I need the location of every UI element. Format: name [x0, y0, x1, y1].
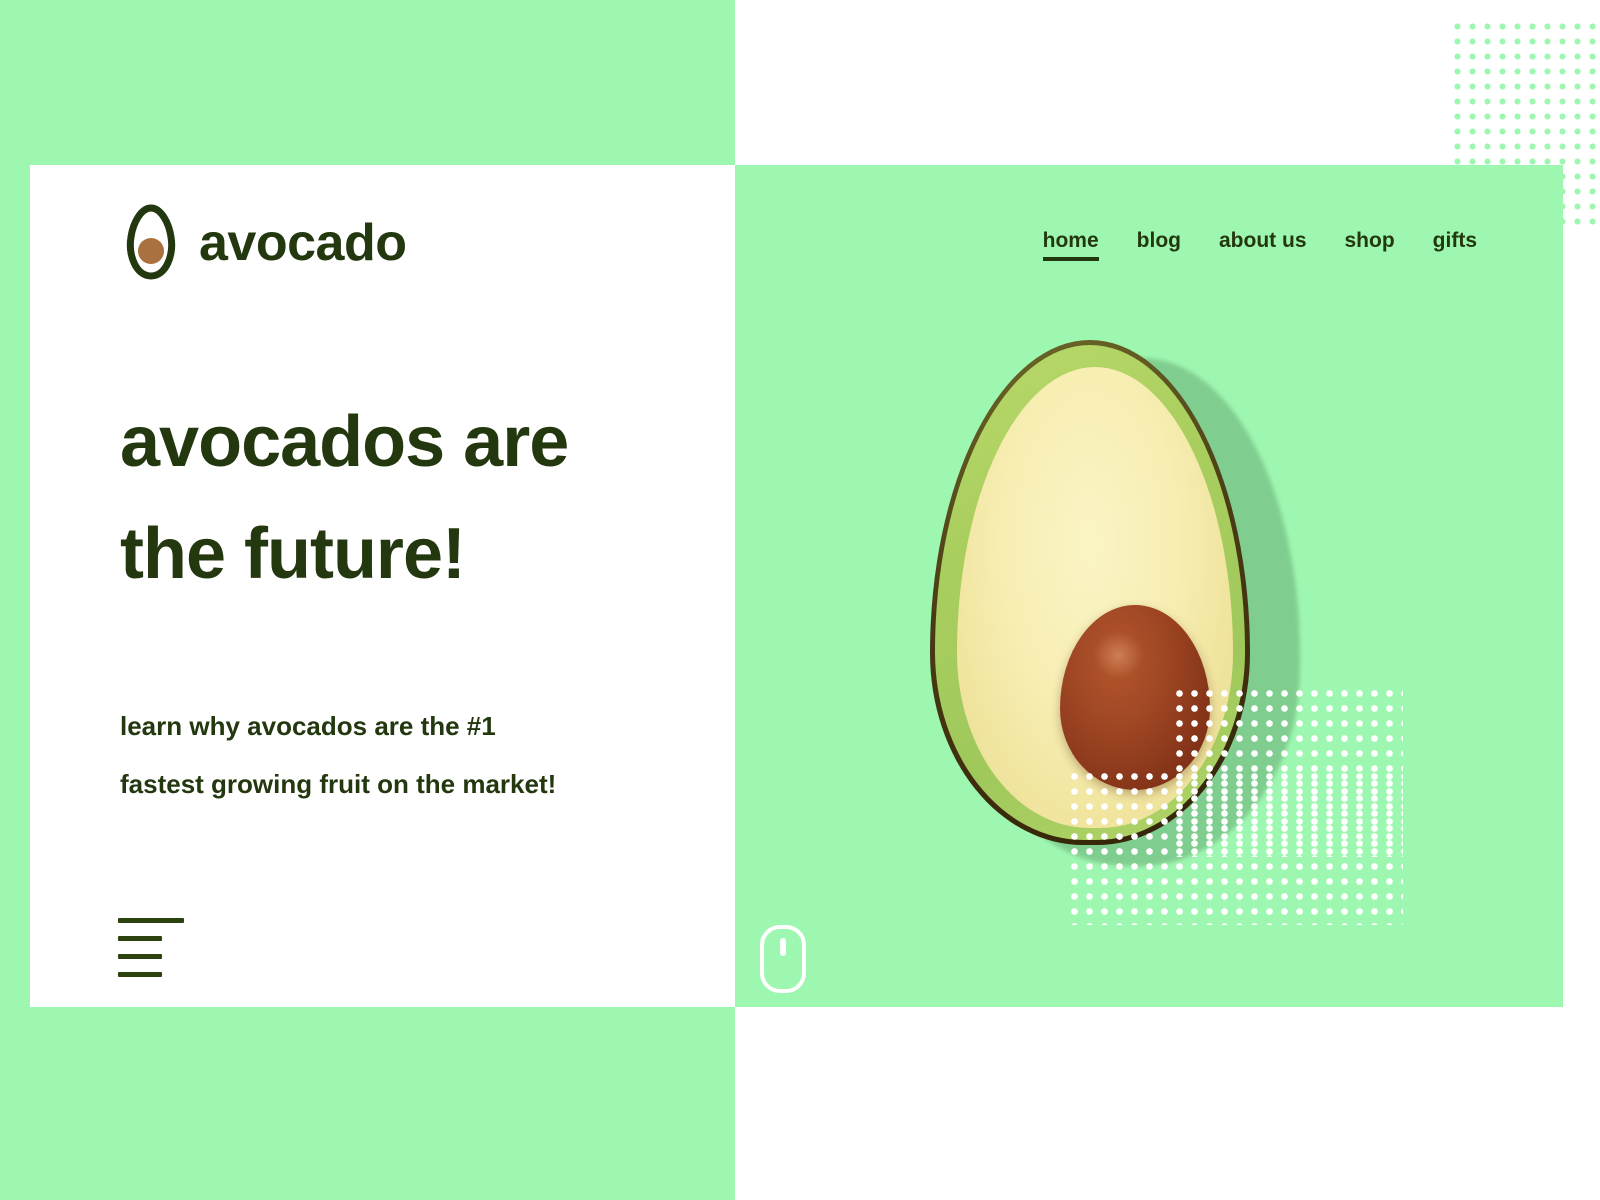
mouse-wheel — [780, 938, 786, 956]
hero-title: avocados are the future! — [120, 386, 680, 611]
nav-item-about-us[interactable]: about us — [1219, 229, 1307, 257]
main-navigation: home blog about us shop gifts — [735, 165, 1563, 261]
hero-subtitle: learn why avocados are the #1 fastest gr… — [120, 697, 680, 814]
landing-page: avocado home blog about us shop gifts av… — [0, 0, 1600, 1200]
hamburger-line-2 — [118, 936, 162, 941]
hero-title-line-1: avocados are — [120, 402, 568, 482]
avocado-icon — [120, 203, 182, 283]
hero-subtitle-line-1: learn why avocados are the #1 — [120, 711, 496, 741]
hero-subtitle-line-2: fastest growing fruit on the market! — [120, 769, 556, 799]
hero-copy: avocados are the future! learn why avoca… — [120, 386, 680, 814]
nav-item-home[interactable]: home — [1043, 229, 1099, 261]
brand-name: avocado — [199, 217, 406, 269]
right-green-panel — [735, 165, 1563, 1007]
nav-item-gifts[interactable]: gifts — [1433, 229, 1477, 257]
dot-pattern-bottom-lower — [1063, 765, 1403, 925]
mouse-scroll-icon[interactable] — [760, 925, 806, 993]
hamburger-line-1 — [118, 918, 184, 923]
hamburger-menu-icon[interactable] — [118, 918, 184, 977]
hamburger-line-4 — [118, 972, 162, 977]
nav-item-shop[interactable]: shop — [1345, 229, 1395, 257]
hamburger-line-3 — [118, 954, 162, 959]
brand-logo[interactable]: avocado — [120, 203, 406, 283]
nav-item-blog[interactable]: blog — [1137, 229, 1181, 257]
hero-title-line-2: the future! — [120, 514, 465, 594]
